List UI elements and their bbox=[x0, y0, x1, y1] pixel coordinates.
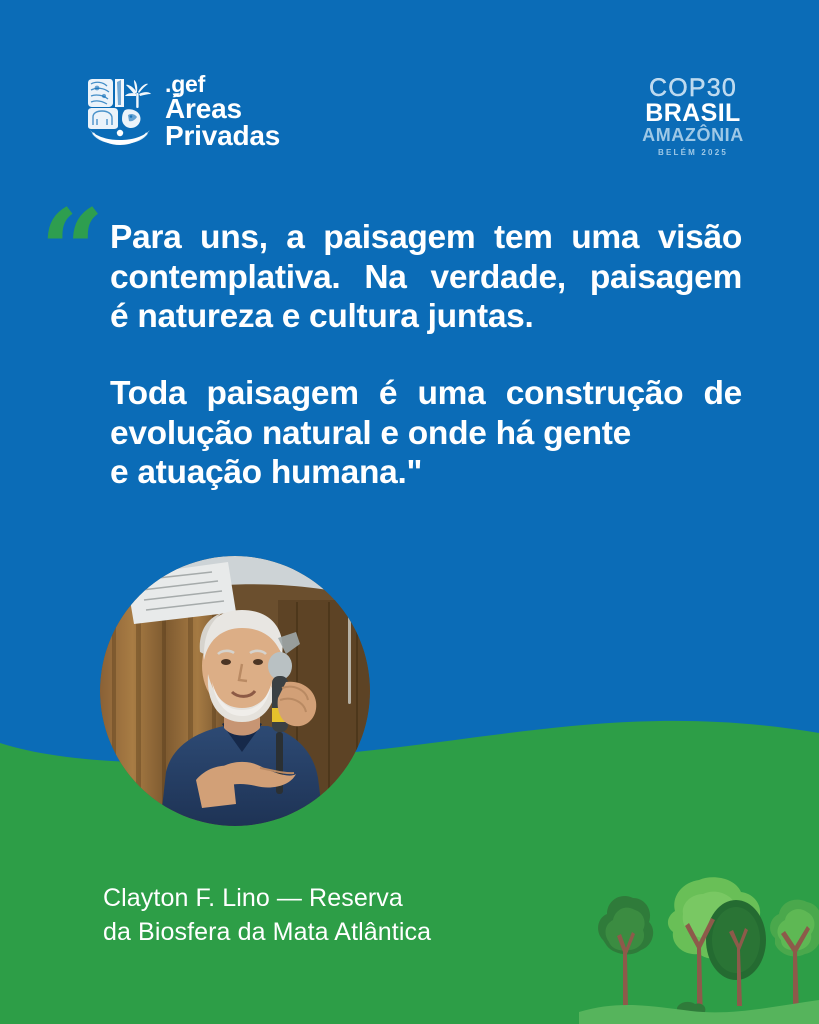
forest-trees-illustration bbox=[579, 856, 819, 1024]
tree-dark-left bbox=[598, 896, 653, 954]
gef-emblem-icon bbox=[84, 76, 156, 146]
quote-paragraph-2: Toda paisagem é uma construção de evoluç… bbox=[110, 374, 742, 493]
gef-wordmark-line2: Áreas bbox=[165, 95, 280, 122]
quote-paragraph-1: Para uns, a paisagem tem uma visão conte… bbox=[110, 218, 742, 337]
quote-paragraph-gap bbox=[110, 337, 742, 374]
speaker-portrait bbox=[100, 556, 370, 826]
cop30-brasil-logo[interactable]: COP30 BRASIL AMAZÔNIA BELÉM 2025 bbox=[642, 76, 744, 157]
speaker-portrait-image bbox=[100, 556, 370, 826]
quote-text: Para uns, a paisagem tem uma visão conte… bbox=[110, 218, 742, 493]
gef-wordmark-line3: Privadas bbox=[165, 122, 280, 149]
cop30-line: COP30 bbox=[642, 76, 744, 101]
header: .gef Áreas Privadas COP30 BRASIL AMAZÔNI… bbox=[0, 0, 819, 175]
quote-card: .gef Áreas Privadas COP30 BRASIL AMAZÔNI… bbox=[0, 0, 819, 1024]
quote-p2-line3: e atuação humana." bbox=[110, 453, 742, 493]
quote-p1-line1: Para uns, a paisagem tem uma visão bbox=[110, 218, 742, 258]
attribution-line1: Clayton F. Lino — Reserva bbox=[103, 881, 431, 915]
amazonia-line: AMAZÔNIA bbox=[642, 126, 744, 145]
quote-open-mark: “ bbox=[40, 196, 101, 308]
gef-areas-privadas-logo[interactable]: .gef Áreas Privadas bbox=[84, 73, 280, 150]
gef-wordmark: .gef Áreas Privadas bbox=[165, 73, 280, 150]
belem-2025-line: BELÉM 2025 bbox=[642, 148, 744, 157]
attribution-line2: da Biosfera da Mata Atlântica bbox=[103, 915, 431, 949]
quote-p1-line3: é natureza e cultura juntas. bbox=[110, 297, 742, 337]
quote-p1-line2: contemplativa. Na verdade, paisagem bbox=[110, 258, 742, 298]
gef-wordmark-line1: .gef bbox=[165, 73, 280, 95]
quote-p2-line1: Toda paisagem é uma construção de bbox=[110, 374, 742, 414]
brasil-line: BRASIL bbox=[642, 100, 744, 126]
attribution: Clayton F. Lino — Reserva da Biosfera da… bbox=[103, 881, 431, 949]
quote-p2-line2: evolução natural e onde há gente bbox=[110, 414, 742, 454]
